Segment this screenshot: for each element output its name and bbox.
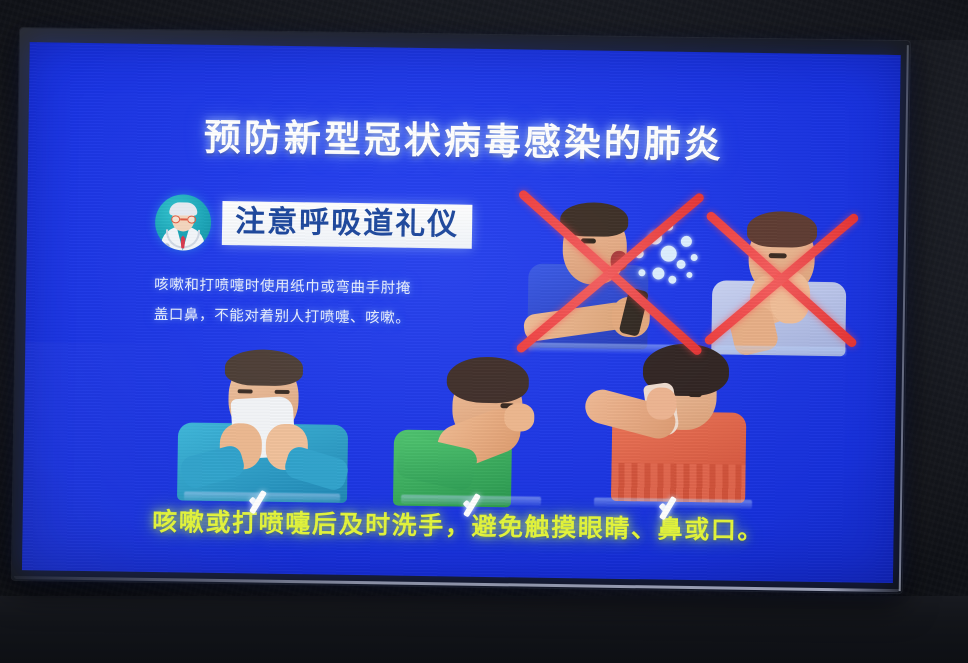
left-content-column: 注意呼吸道礼仪 咳嗽和打喷嚏时使用纸巾或弯曲手肘掩 盖口鼻，不能对着别人打喷嚏、… bbox=[154, 194, 496, 335]
section-heading-banner: 注意呼吸道礼仪 bbox=[222, 201, 473, 248]
glasses-right-lens bbox=[187, 215, 196, 223]
body-text-line-1: 咳嗽和打喷嚏时使用纸巾或弯曲手肘掩 bbox=[154, 271, 472, 305]
bottom-caption: 咳嗽或打喷嚏后及时洗手，避免触摸眼睛、鼻或口。 bbox=[22, 500, 893, 549]
section-heading-row: 注意呼吸道礼仪 bbox=[155, 194, 496, 255]
figure-artwork bbox=[391, 350, 553, 506]
hand-shape-right bbox=[770, 271, 811, 324]
figure-right-tissue-second bbox=[583, 338, 765, 509]
figure-wrong-hands-cover bbox=[705, 202, 857, 356]
presentation-slide: 预防新型冠状病毒感染的肺炎 bbox=[22, 42, 901, 583]
hair-shape bbox=[446, 356, 529, 403]
figure-right-elbow bbox=[391, 350, 553, 506]
sneeze-droplets-icon bbox=[630, 219, 705, 290]
television-display: 预防新型冠状病毒感染的肺炎 bbox=[12, 28, 910, 593]
figure-artwork bbox=[173, 344, 353, 503]
eye-shape-left bbox=[238, 389, 253, 393]
glasses-bridge bbox=[180, 218, 187, 220]
white-check-mark-icon bbox=[657, 492, 683, 522]
open-mouth-shape bbox=[610, 251, 627, 271]
stethoscope-bell-icon bbox=[164, 243, 170, 249]
figure-wrong-open-sneeze bbox=[517, 191, 703, 354]
display-screen: 预防新型冠状病毒感染的肺炎 bbox=[22, 42, 901, 583]
glasses-left-lens bbox=[171, 215, 180, 223]
eye-shape bbox=[769, 253, 787, 258]
eye-shape bbox=[581, 238, 596, 243]
figure-artwork bbox=[705, 202, 857, 356]
doctor-avatar-icon bbox=[155, 194, 212, 251]
eye-shape bbox=[689, 392, 702, 397]
figure-right-tissue bbox=[173, 344, 353, 503]
foreground-surface bbox=[0, 596, 968, 663]
photo-scene: 预防新型冠状病毒感染的肺炎 bbox=[0, 0, 968, 663]
page-title: 预防新型冠状病毒感染的肺炎 bbox=[28, 104, 900, 171]
white-check-mark-icon bbox=[461, 489, 487, 519]
eye-shape-right bbox=[275, 390, 290, 394]
white-check-mark-icon bbox=[247, 485, 273, 515]
hair-shape bbox=[560, 202, 628, 237]
section-body-text: 咳嗽和打喷嚏时使用纸巾或弯曲手肘掩 盖口鼻，不能对着别人打喷嚏、咳嗽。 bbox=[154, 271, 473, 335]
doctor-glasses-icon bbox=[171, 215, 196, 223]
hand-shape bbox=[504, 403, 534, 431]
hand-shape bbox=[646, 387, 676, 419]
figure-artwork bbox=[583, 338, 765, 509]
hair-shape bbox=[747, 211, 818, 248]
hair-shape bbox=[225, 349, 304, 386]
doctor-hair-shape bbox=[169, 202, 197, 215]
body-text-line-2: 盖口鼻，不能对着别人打喷嚏、咳嗽。 bbox=[154, 301, 472, 335]
figure-artwork bbox=[517, 191, 703, 354]
